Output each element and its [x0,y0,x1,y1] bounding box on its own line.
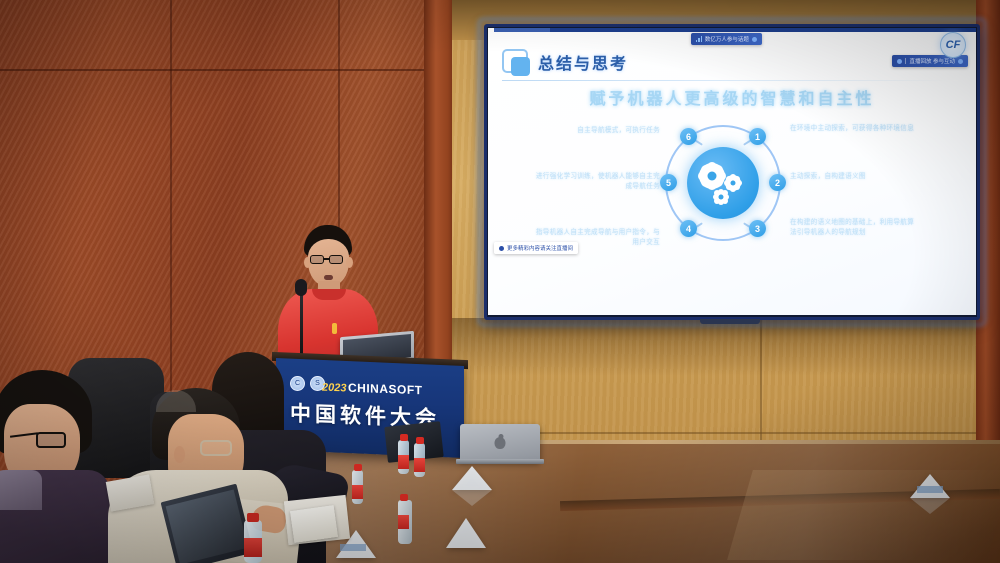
macbook-base [456,459,544,464]
glasses-icon [200,440,232,456]
microphone-icon [295,279,307,296]
screen-mount [700,319,760,324]
rounded-square-icon [502,49,528,73]
podium-year: 2023 [322,382,346,395]
conference-room-scene: 总结与思考 赋予机器人更高级的智慧和自主性 1 2 3 4 5 [0,0,1000,563]
diagram-caption-5: 进行强化学习训练，使机器人能够自主完成导航任务 [532,172,660,192]
diagram-node-4[interactable]: 4 [680,220,697,237]
circular-process-diagram: 1 2 3 4 5 6 [656,116,790,250]
gear-small-icon [725,175,741,191]
document-paper[interactable] [290,505,338,543]
gears-icon [699,163,725,189]
table-rim-highlight [727,470,1000,560]
gear-tiny-icon [714,190,728,204]
slide-header-divider [502,80,958,81]
name-card-reflection [910,498,950,514]
podium-english-title: CHINASOFT [348,381,423,398]
download-icon [897,59,902,64]
diagram-caption-1: 在环境中主动探索，可获得各种环境信息 [790,124,920,134]
water-bottle[interactable] [244,520,262,563]
water-bottle[interactable] [398,500,412,544]
shirt-logo [332,323,337,334]
diagram-center-circle [687,147,759,219]
water-bottle[interactable] [398,440,409,474]
glasses-icon [36,432,66,448]
wall-shadow [452,318,976,376]
signal-bars-icon [696,36,702,42]
diagram-caption-2: 主动探索，自构建语义图 [790,172,920,182]
glasses-icon [329,255,343,264]
livestream-top-badge[interactable]: 数亿万人参与话题 [691,33,762,45]
diagram-node-5[interactable]: 5 [660,174,677,191]
slide-main-title: 赋予机器人更高级的智慧和自主性 [488,85,976,109]
diagram-node-2[interactable]: 2 [769,174,786,191]
presentation-slide: 总结与思考 赋予机器人更高级的智慧和自主性 1 2 3 4 5 [488,28,976,315]
glasses-bridge [323,258,329,260]
livestream-top-badge-label: 数亿万人参与话题 [705,35,749,43]
livestream-bottom-badge[interactable]: 更多精彩内容请关注直播间 [494,242,578,254]
water-bottle[interactable] [414,443,425,477]
name-card-holder[interactable] [452,466,492,490]
macbook-on-table[interactable] [460,424,540,461]
speaker-ear [346,257,353,268]
person-1-collar [0,470,42,510]
water-bottle[interactable] [352,470,363,504]
conference-logo-icon: CF [940,32,966,58]
speaker-mouth [324,275,333,280]
apple-logo-icon [495,437,506,449]
name-card-strip [917,486,943,493]
diagram-caption-3: 在构建的语义地图的基础上，利用导航算法引导机器人的导航规划 [790,218,920,238]
name-card-strip [340,544,366,551]
projection-screen[interactable]: 总结与思考 赋予机器人更高级的智慧和自主性 1 2 3 4 5 [484,24,980,320]
diagram-node-6[interactable]: 6 [680,128,697,145]
double-chevron-icon [958,59,963,64]
livestream-bottom-badge-label: 更多精彩内容请关注直播间 [507,244,573,252]
diagram-caption-6: 自主导航模式，可执行任务 [532,126,660,136]
name-card-holder[interactable] [446,518,486,548]
person-2-ear [174,446,185,463]
diagram-node-1[interactable]: 1 [749,128,766,145]
flame-icon [752,37,757,42]
name-card-reflection [452,490,492,506]
diagram-node-3[interactable]: 3 [749,220,766,237]
circle-dot-icon [499,246,504,251]
livestream-right-badge-label: 直播回放 参与互动 [909,57,955,65]
ccf-emblem-icon: C [290,376,305,391]
glasses-icon [310,255,324,264]
wall-seam [0,69,452,71]
slide-header-title: 总结与思考 [538,50,628,74]
